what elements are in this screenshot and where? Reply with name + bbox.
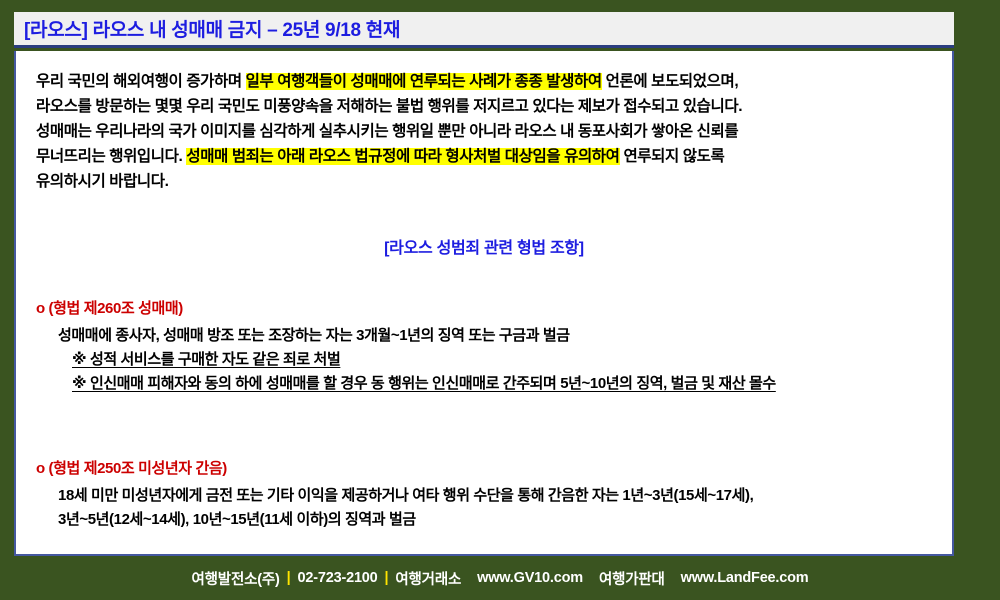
header-band: [라오스] 라오스 내 성매매 금지 – 25년 9/18 현재 <box>14 12 954 48</box>
law-title-260: o (형법 제260조 성매매) <box>36 298 932 320</box>
intro-line-4-a: 무너뜨리는 행위입니다. <box>36 148 186 165</box>
poster-frame: [라오스] 라오스 내 성매매 금지 – 25년 9/18 현재 우리 국민의 … <box>0 0 1000 600</box>
law-body-260: 성매매에 종사자, 성매매 방조 또는 조장하는 자는 3개월~1년의 징역 또… <box>36 324 932 396</box>
footer-separator-2: | <box>385 570 389 586</box>
footer-company: 여행발전소(주) <box>192 568 280 589</box>
footer-separator-1: | <box>287 570 291 586</box>
page-title: [라오스] 라오스 내 성매매 금지 – 25년 9/18 현재 <box>14 15 400 42</box>
footer-brand-1: 여행거래소 <box>395 568 461 589</box>
footer-bar: 여행발전소(주) | 02-723-2100 | 여행거래소 www.GV10.… <box>0 556 1000 600</box>
footer-brand-2: 여행가판대 <box>599 568 665 589</box>
law-250-line-1: 18세 미만 미성년자에게 금전 또는 기타 이익을 제공하거나 여타 행위 수… <box>58 484 932 508</box>
intro-paragraph: 우리 국민의 해외여행이 증가하며 일부 여행객들이 성매매에 연루되는 사례가… <box>36 69 932 194</box>
intro-line-4: 무너뜨리는 행위입니다. 성매매 범죄는 아래 라오스 법규정에 따라 형사처벌… <box>36 144 932 169</box>
law-250-line-2: 3년~5년(12세~14세), 10년~15년(11세 이하)의 징역과 벌금 <box>58 508 932 532</box>
intro-line-5: 유의하시기 바랍니다. <box>36 169 932 194</box>
intro-line-4-b: 연루되지 않도록 <box>620 148 725 165</box>
footer-url-2[interactable]: www.LandFee.com <box>681 570 809 586</box>
intro-highlight-1: 일부 여행객들이 성매매에 연루되는 사례가 종종 발생하여 <box>246 73 602 90</box>
section-heading: [라오스 성범죄 관련 형법 조항] <box>36 194 932 258</box>
law-260-line-1: 성매매에 종사자, 성매매 방조 또는 조장하는 자는 3개월~1년의 징역 또… <box>58 324 932 348</box>
footer-phone: 02-723-2100 <box>298 570 378 586</box>
intro-highlight-2: 성매매 범죄는 아래 라오스 법규정에 따라 형사처벌 대상임을 유의하여 <box>186 148 619 165</box>
content-panel: 우리 국민의 해외여행이 증가하며 일부 여행객들이 성매매에 연루되는 사례가… <box>14 51 954 556</box>
law-block-250: o (형법 제250조 미성년자 간음) 18세 미만 미성년자에게 금전 또는… <box>36 458 932 532</box>
law-body-250: 18세 미만 미성년자에게 금전 또는 기타 이익을 제공하거나 여타 행위 수… <box>36 484 932 532</box>
intro-line-1-a: 우리 국민의 해외여행이 증가하며 <box>36 73 246 90</box>
intro-line-2: 라오스를 방문하는 몇몇 우리 국민도 미풍양속을 저해하는 불법 행위를 저지… <box>36 94 932 119</box>
intro-line-1: 우리 국민의 해외여행이 증가하며 일부 여행객들이 성매매에 연루되는 사례가… <box>36 69 932 94</box>
footer-url-1[interactable]: www.GV10.com <box>477 570 583 586</box>
law-260-note-2: ※ 인신매매 피해자와 동의 하에 성매매를 할 경우 동 행위는 인신매매로 … <box>58 372 932 396</box>
law-title-250: o (형법 제250조 미성년자 간음) <box>36 458 932 480</box>
law-block-260: o (형법 제260조 성매매) 성매매에 종사자, 성매매 방조 또는 조장하… <box>36 298 932 396</box>
law-260-note-1: ※ 성적 서비스를 구매한 자도 같은 죄로 처벌 <box>58 348 932 372</box>
intro-line-3: 성매매는 우리나라의 국가 이미지를 심각하게 실추시키는 행위일 뿐만 아니라… <box>36 119 932 144</box>
intro-line-1-b: 언론에 보도되었으며, <box>602 73 738 90</box>
